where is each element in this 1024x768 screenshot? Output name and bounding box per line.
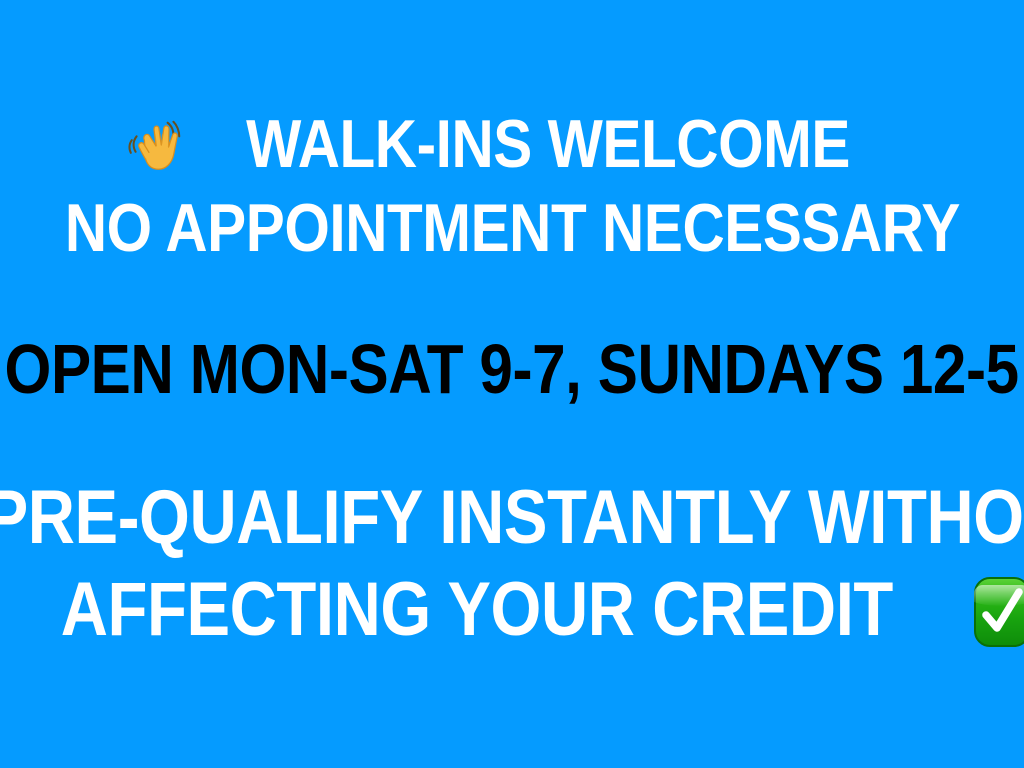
prequalify-text-two: AFFECTING YOUR CREDIT bbox=[61, 572, 893, 648]
headline-walk-ins-welcome: WALK-INS WELCOME bbox=[0, 108, 1024, 180]
business-hours-text: OPEN MON-SAT 9-7, SUNDAYS 12-5 bbox=[5, 334, 1019, 404]
prequalify-line-two: AFFECTING YOUR CREDIT bbox=[0, 570, 1024, 650]
promo-poster: WALK-INS WELCOME NO APPOINTMENT NECESSAR… bbox=[0, 0, 1024, 768]
waving-hand-icon bbox=[125, 115, 187, 177]
prequalify-text-one: PRE-QUALIFY INSTANTLY WITHOUT bbox=[0, 480, 1024, 556]
headline-text: WALK-INS WELCOME bbox=[246, 110, 850, 178]
business-hours-line: OPEN MON-SAT 9-7, SUNDAYS 12-5 bbox=[0, 332, 1024, 406]
prequalify-line-one: PRE-QUALIFY INSTANTLY WITHOUT bbox=[0, 478, 1024, 558]
subheadline-no-appointment: NO APPOINTMENT NECESSARY bbox=[0, 192, 1024, 264]
subheadline-text: NO APPOINTMENT NECESSARY bbox=[64, 194, 959, 262]
white-check-mark-icon bbox=[973, 576, 1024, 648]
